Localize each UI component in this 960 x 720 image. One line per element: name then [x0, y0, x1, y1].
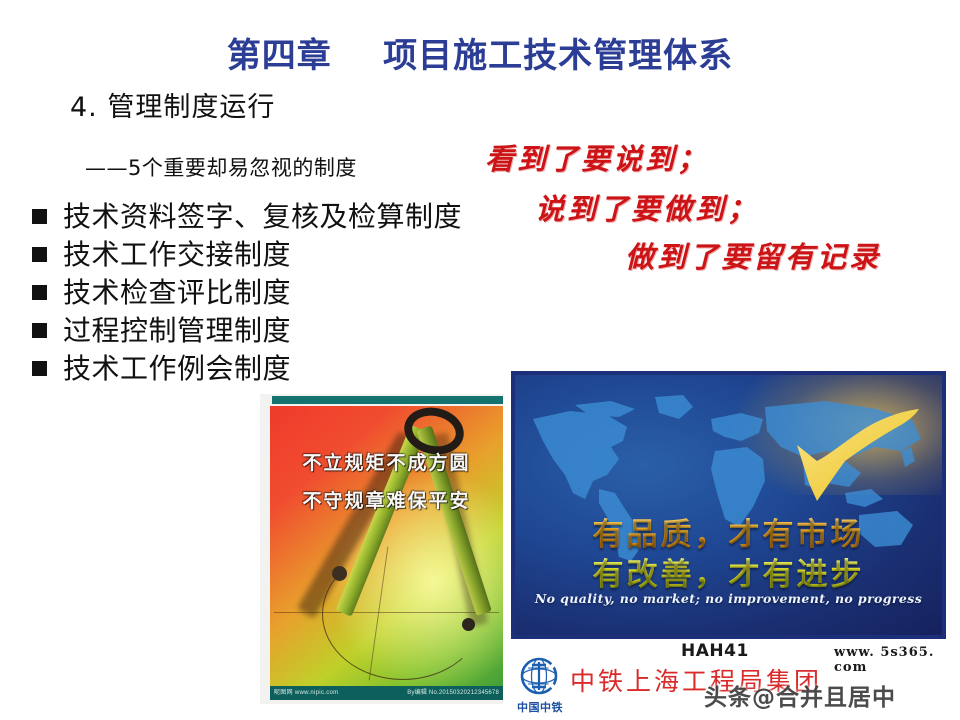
section-subheading: ——5个重要却易忽视的制度 [85, 152, 357, 182]
poster-top-bar [272, 396, 503, 404]
calligraphy-line-1: 看到了要说到； [485, 136, 709, 178]
calligraphy-slogan-block: 看到了要说到； 说到了要做到； 做到了要留有记录 [470, 134, 960, 284]
poster-website-label: www. 5s365. com [834, 645, 960, 675]
poster-right-title-1: 有品质，才有市场 [515, 509, 942, 554]
watermark-label: 头条@合并且居中 [704, 678, 896, 712]
list-item: 技术工作例会制度 [32, 350, 552, 388]
calligraphy-line-2: 说到了要做到； [535, 186, 759, 228]
square-bullet-icon [32, 361, 47, 376]
compass-photo: 不立规矩不成方圆 不守规章难保平安 [270, 406, 503, 689]
square-bullet-icon [32, 323, 47, 338]
yellow-arrow-icon [783, 405, 923, 515]
square-bullet-icon [32, 285, 47, 300]
list-item-label: 技术工作例会制度 [63, 350, 291, 388]
poster-source-label: 昵图网 www.nipic.com [274, 686, 338, 700]
china-railway-logo-caption: 中国中铁 [512, 699, 568, 715]
list-item-label: 技术资料签字、复核及检算制度 [63, 198, 462, 236]
square-bullet-icon [32, 247, 47, 262]
section-heading: 4. 管理制度运行 [70, 85, 275, 124]
poster-inner: 有品质，才有市场 有改善，才有进步 No quality, no market;… [515, 375, 942, 635]
list-item-label: 过程控制管理制度 [63, 312, 291, 350]
poster-left-line-1: 不立规矩不成方圆 [270, 448, 503, 475]
china-railway-logo-icon [516, 655, 562, 701]
square-bullet-icon [32, 209, 47, 224]
poster-left-line-2: 不守规章难保平安 [270, 486, 503, 513]
page-title: 第四章 项目施工技术管理体系 [0, 28, 960, 77]
list-item-label: 技术检查评比制度 [63, 274, 291, 312]
poster-code-label: HAH41 [681, 641, 749, 661]
poster-right-title-2: 有改善，才有进步 [515, 549, 942, 594]
compass-tip-icon [462, 618, 475, 631]
quality-slogan-poster-image: 有品质，才有市场 有改善，才有进步 No quality, no market;… [511, 371, 946, 639]
poster-id-label: By编辑 No.20150320212345678 [407, 686, 499, 700]
slide-canvas: 第四章 项目施工技术管理体系 4. 管理制度运行 ——5个重要却易忽视的制度 技… [0, 0, 960, 720]
compass-poster-image: 不立规矩不成方圆 不守规章难保平安 昵图网 www.nipic.com By编辑… [260, 394, 503, 704]
calligraphy-line-3: 做到了要留有记录 [625, 234, 881, 276]
list-item-label: 技术工作交接制度 [63, 236, 291, 274]
list-item: 过程控制管理制度 [32, 312, 552, 350]
poster-right-subtitle-en: No quality, no market; no improvement, n… [515, 591, 942, 606]
compass-tip-icon [332, 566, 347, 581]
poster-footer-bar: 昵图网 www.nipic.com By编辑 No.20150320212345… [270, 686, 503, 700]
